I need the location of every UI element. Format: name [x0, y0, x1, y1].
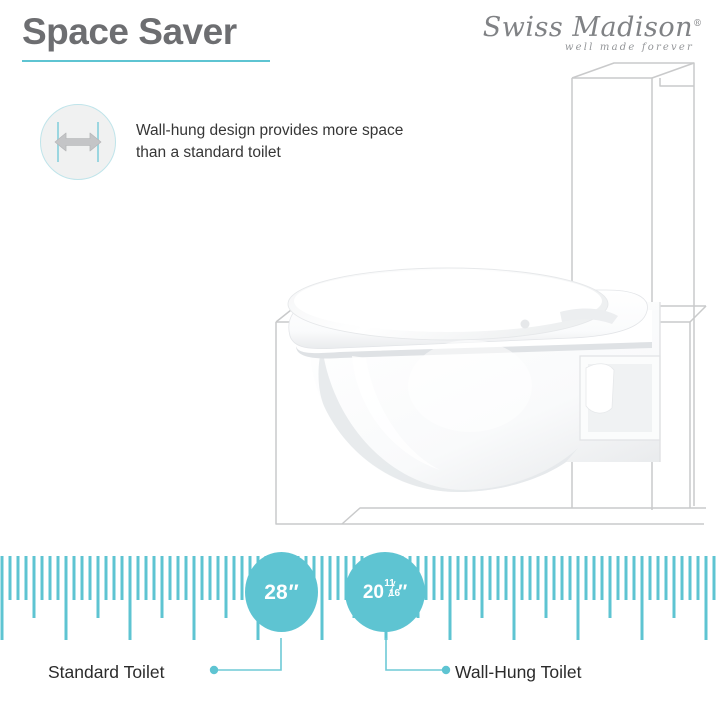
page-title: Space Saver	[22, 12, 237, 53]
connector-line-wall-hung	[386, 638, 443, 670]
badge-fraction: 11 16	[386, 579, 397, 599]
product-illustration	[0, 56, 720, 556]
connector-dot-standard	[210, 666, 218, 674]
brand-name-text: Swiss Madison	[483, 12, 693, 43]
brand-tagline: well made forever	[472, 42, 702, 53]
legend-label-wall-hung: Wall-Hung Toilet	[455, 662, 581, 683]
wall-hung-toilet-photo	[288, 268, 660, 492]
toilet-lid-highlight	[294, 270, 602, 332]
measurement-badge-standard: 28″	[245, 552, 318, 632]
flush-button	[586, 364, 614, 413]
connector-dot-wall-hung	[442, 666, 450, 674]
connector-line-standard	[217, 638, 281, 670]
registered-trademark-icon: ®	[693, 19, 702, 29]
toilet-gloss	[408, 340, 532, 432]
fraction-denominator: 16	[389, 589, 400, 599]
legend-label-standard: Standard Toilet	[48, 662, 164, 683]
badge-value: 28	[264, 582, 287, 603]
measurement-badge-wall-hung: 20 11 16 ″	[345, 552, 425, 632]
badge-value: 20	[363, 583, 384, 602]
badge-unit: ″	[289, 582, 299, 603]
brand-name: Swiss Madison®	[472, 14, 702, 41]
seat-bumper	[521, 320, 530, 329]
